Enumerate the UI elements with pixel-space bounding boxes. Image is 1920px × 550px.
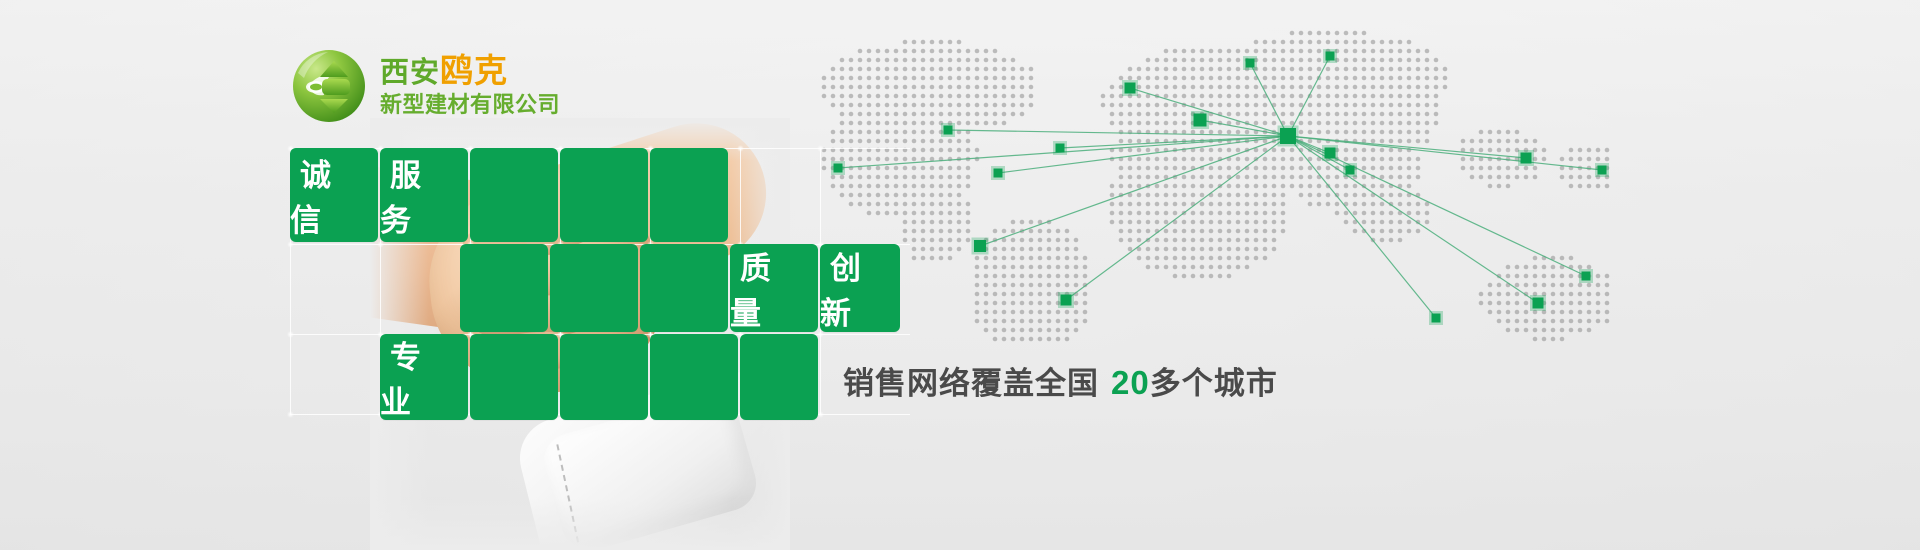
value-tile-blank-a — [470, 148, 558, 242]
value-tile-blank-c — [650, 148, 728, 242]
value-tile-blank-h — [560, 334, 648, 420]
value-tile-blank-f — [640, 244, 728, 332]
value-tile-innovation: 创 新 — [820, 244, 900, 332]
value-tile-service: 服 务 — [380, 148, 468, 242]
value-tile-blank-d — [460, 244, 548, 332]
tagline-prefix: 销售网络覆盖全国 — [843, 366, 1099, 401]
logo-subtitle: 新型建材有限公司 — [380, 91, 560, 120]
value-tile-quality: 质 量 — [730, 244, 818, 332]
grid-node — [817, 411, 824, 418]
green-globe-leaf-icon — [290, 47, 368, 125]
logo-text-block: 西安鸥克 新型建材有限公司 — [380, 52, 560, 120]
grid-node — [287, 411, 294, 418]
tagline-number: 20 — [1111, 364, 1150, 401]
grid-node — [287, 241, 294, 248]
tagline-suffix: 多个城市 — [1150, 366, 1278, 401]
value-tile-blank-e — [550, 244, 638, 332]
map-dot-grid — [822, 31, 1610, 342]
marketing-banner: 诚 信服 务质 量创 新专 业 — [0, 0, 1920, 550]
network-tagline: 销售网络覆盖全国20多个城市 — [843, 358, 1278, 403]
value-tile-blank-j — [740, 334, 818, 420]
logo-title-line: 西安鸥克 — [380, 52, 560, 91]
value-tile-blank-g — [470, 334, 558, 420]
value-tile-blank-i — [650, 334, 738, 420]
value-tile-integrity: 诚 信 — [290, 148, 378, 242]
logo-brand: 鸥克 — [440, 52, 508, 89]
value-tile-blank-b — [560, 148, 648, 242]
company-logo[interactable]: 西安鸥克 新型建材有限公司 — [290, 42, 590, 130]
logo-city: 西安 — [380, 57, 440, 89]
grid-node — [287, 331, 294, 338]
value-tile-expertise: 专 业 — [380, 334, 468, 420]
